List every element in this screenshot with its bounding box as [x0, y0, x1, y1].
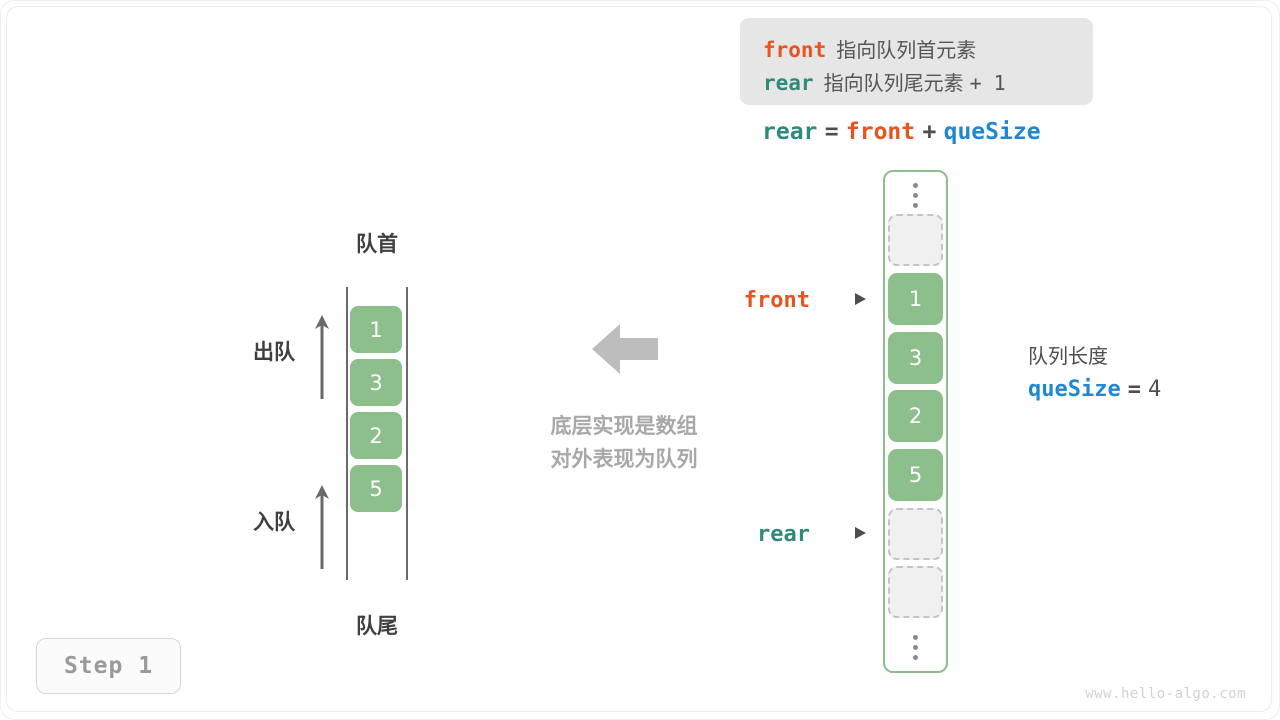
legend-line-front: front指向队列首元素: [763, 40, 976, 61]
array-slot-value: 1: [909, 287, 922, 311]
enqueue-up-arrow-icon: [310, 483, 334, 569]
legend-desc-front: 指向队列首元素: [836, 38, 976, 62]
dequeue-up-arrow-icon: [310, 313, 334, 399]
formula-equals: =: [825, 119, 839, 145]
quesize-title: 队列长度: [1028, 342, 1161, 370]
formula-front: front: [846, 119, 915, 145]
array-slot-empty: [888, 214, 943, 266]
queue-cell-value: 3: [369, 371, 382, 395]
array-slot: 2: [888, 390, 943, 442]
middle-note-line2: 对外表现为队列: [508, 443, 740, 476]
queue-cell: 1: [350, 306, 402, 353]
step-badge-label: Step 1: [64, 653, 153, 679]
queue-cell: 2: [350, 412, 402, 459]
vertical-ellipsis-icon-top: [888, 178, 943, 212]
queue-cell-value: 2: [369, 424, 382, 448]
legend-keyword-front: front: [763, 38, 826, 62]
legend-keyword-rear: rear: [763, 71, 814, 95]
middle-note: 底层实现是数组 对外表现为队列: [508, 410, 740, 476]
quesize-info: 队列长度 queSize = 4: [1028, 342, 1161, 402]
legend-suffix-rear: + 1: [970, 71, 1006, 95]
queue-cell-value: 5: [369, 477, 382, 501]
array-slot-rear: [888, 508, 943, 560]
front-pointer-label: front: [700, 288, 810, 313]
left-arrow-icon: [592, 320, 658, 378]
front-pointer-arrow-icon: [855, 293, 866, 305]
quesize-name: queSize: [1028, 377, 1121, 402]
quesize-equals: =: [1128, 377, 1141, 402]
enqueue-label: 入队: [253, 506, 295, 536]
watermark: www.hello-algo.com: [1085, 686, 1246, 702]
array-slot-value: 5: [909, 463, 922, 487]
formula-quesize: queSize: [944, 119, 1041, 145]
quesize-value: 4: [1148, 377, 1161, 402]
middle-note-line1: 底层实现是数组: [508, 410, 740, 443]
dequeue-label: 出队: [253, 336, 295, 366]
legend-box: front指向队列首元素 rear指向队列尾元素+ 1: [740, 18, 1093, 105]
array-slot-value: 3: [909, 346, 922, 370]
step-badge: Step 1: [36, 638, 181, 694]
array-slot: 3: [888, 332, 943, 384]
legend-line-rear: rear指向队列尾元素+ 1: [763, 73, 1006, 94]
array-slot: 5: [888, 449, 943, 501]
vertical-ellipsis-icon-bottom: [888, 630, 943, 664]
queue-tail-label: 队尾: [346, 610, 408, 640]
formula-rear-equals-front-plus-quesize: rear = front + queSize: [762, 120, 1041, 144]
queue-cell: 3: [350, 359, 402, 406]
queue-head-label: 队首: [346, 228, 408, 258]
quesize-expression: queSize = 4: [1028, 378, 1161, 402]
queue-rail-right: [406, 287, 408, 580]
rear-pointer-label: rear: [700, 522, 810, 547]
array-slot-value: 2: [909, 404, 922, 428]
array-slot-empty: [888, 566, 943, 618]
diagram-canvas: front指向队列首元素 rear指向队列尾元素+ 1 rear = front…: [0, 0, 1280, 720]
legend-desc-rear: 指向队列尾元素: [824, 71, 964, 95]
formula-plus: +: [922, 119, 936, 145]
queue-cell: 5: [350, 465, 402, 512]
rear-pointer-arrow-icon: [855, 527, 866, 539]
formula-rear: rear: [762, 119, 817, 145]
array-slot-front: 1: [888, 273, 943, 325]
queue-rail-left: [346, 287, 348, 580]
queue-cell-value: 1: [369, 318, 382, 342]
